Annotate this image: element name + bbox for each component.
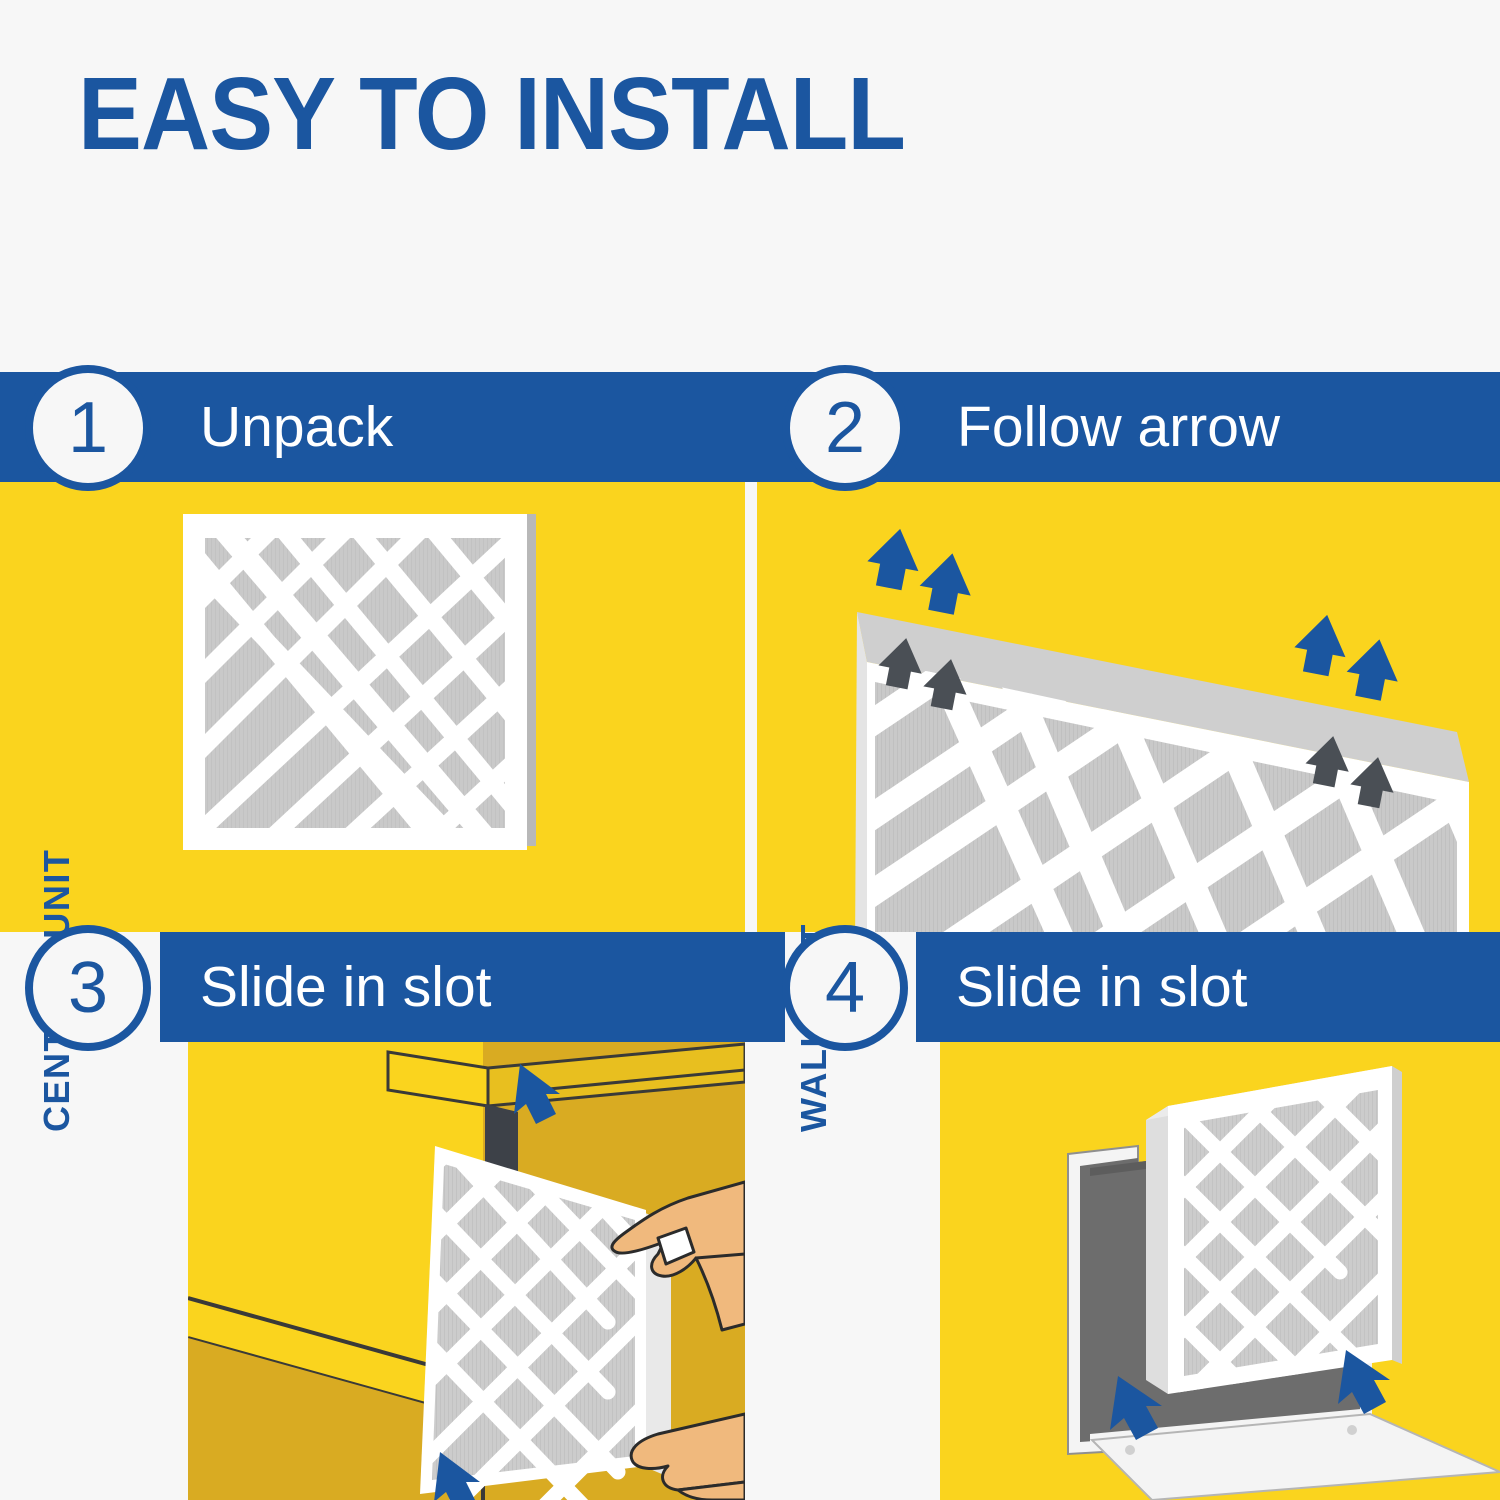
step-1-number-badge: 1 bbox=[25, 365, 151, 491]
step-4-banner[interactable]: Slide in slot bbox=[916, 932, 1500, 1042]
step-4-label: Slide in slot bbox=[956, 959, 1248, 1016]
airflow-arrow-right bbox=[1287, 610, 1407, 703]
page-title: EASY TO INSTALL bbox=[78, 62, 905, 165]
step-4-number-badge: 4 bbox=[782, 925, 908, 1051]
airflow-arrow-left bbox=[860, 524, 980, 617]
step-3-number-badge: 3 bbox=[25, 925, 151, 1051]
wall-unit-scene bbox=[940, 1042, 1500, 1500]
step-2-number-badge: 2 bbox=[782, 365, 908, 491]
flat-filter-drawing bbox=[0, 482, 745, 932]
step-3-illustration bbox=[188, 1042, 745, 1500]
step-3-banner[interactable]: Slide in slot bbox=[160, 932, 785, 1042]
step-4-illustration bbox=[940, 1042, 1500, 1500]
step-2-illustration bbox=[757, 482, 1500, 932]
tilted-filter-drawing bbox=[757, 482, 1500, 932]
step-4-number: 4 bbox=[825, 952, 865, 1024]
step-1-number: 1 bbox=[68, 392, 108, 464]
infographic-canvas: EASY TO INSTALL bbox=[0, 0, 1500, 1500]
step-2-number: 2 bbox=[825, 392, 865, 464]
step-1-label: Unpack bbox=[200, 399, 393, 456]
step-3-number: 3 bbox=[68, 952, 108, 1024]
central-unit-scene bbox=[188, 1042, 745, 1500]
step-2-label: Follow arrow bbox=[957, 399, 1280, 456]
step-1-illustration bbox=[0, 482, 745, 932]
step-3-label: Slide in slot bbox=[200, 959, 492, 1016]
